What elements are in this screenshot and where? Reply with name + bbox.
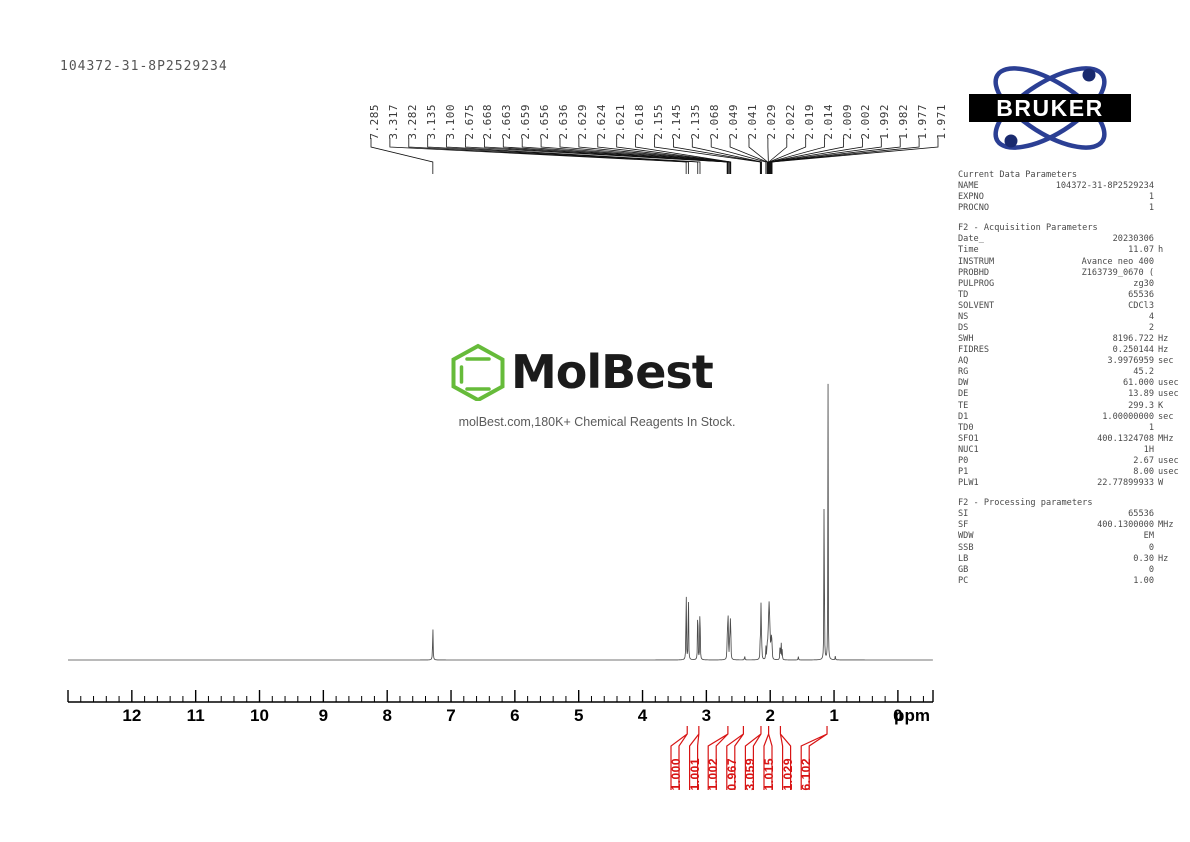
parameter-key: PROCNO (958, 203, 1020, 214)
peak-ppm-label: 2.663 (500, 104, 513, 140)
parameter-value: 1 (1020, 203, 1154, 214)
peak-ppm-label: 3.135 (425, 104, 438, 140)
axis-tick-label: 8 (382, 706, 391, 726)
sample-id-title: 104372-31-8P2529234 (60, 59, 228, 74)
integral-value-label: 1.002 (706, 758, 720, 791)
peak-ppm-label: 2.041 (746, 104, 759, 140)
parameter-value: 1 (1020, 192, 1154, 203)
bruker-node-icon (1083, 69, 1096, 82)
peak-ppm-label: 2.621 (614, 104, 627, 140)
bruker-logo: BRUKER (955, 52, 1145, 164)
peak-ppm-label: 2.659 (519, 104, 532, 140)
peak-ppm-label: 2.675 (463, 104, 476, 140)
peak-ppm-label: 2.145 (670, 104, 683, 140)
parameter-row: PROCNO1 (958, 203, 1188, 214)
integral-value-label: 3.059 (743, 758, 757, 791)
parameter-value: 20230306 (1020, 234, 1154, 245)
integral-value-label: 1.015 (762, 758, 776, 791)
peak-ppm-label: 2.668 (481, 104, 494, 140)
axis-tick-label: 12 (122, 706, 141, 726)
nmr-spectrum-plot (0, 250, 1190, 670)
peak-ppm-label: 3.317 (387, 104, 400, 140)
peak-ppm-label: 2.629 (576, 104, 589, 140)
axis-tick-label: 9 (319, 706, 328, 726)
parameter-unit (1154, 181, 1188, 192)
parameter-key: Date_ (958, 234, 1020, 245)
axis-tick-label: 10 (250, 706, 269, 726)
bruker-wordmark: BRUKER (969, 94, 1131, 122)
integral-value-label: 1.000 (669, 758, 683, 791)
peak-ppm-label: 7.285 (368, 104, 381, 140)
peak-ppm-label: 1.977 (916, 104, 929, 140)
axis-tick-label: 2 (765, 706, 774, 726)
peak-ppm-label: 2.009 (841, 104, 854, 140)
peak-ppm-label: 1.982 (897, 104, 910, 140)
peak-ppm-label: 2.029 (765, 104, 778, 140)
peak-ppm-label: 1.992 (878, 104, 891, 140)
peak-ppm-label: 2.014 (822, 104, 835, 140)
parameter-row: EXPNO1 (958, 192, 1188, 203)
axis-svg (0, 680, 1190, 730)
spectrum-trace-svg (0, 250, 1190, 670)
integral-svg (0, 726, 1190, 816)
axis-tick-label: 5 (574, 706, 583, 726)
peak-ppm-label: 2.019 (803, 104, 816, 140)
parameter-row: Date_20230306 (958, 234, 1188, 245)
peak-ppm-label: 3.100 (444, 104, 457, 140)
peak-ppm-label: 2.155 (652, 104, 665, 140)
bruker-node-icon (1005, 135, 1018, 148)
integral-value-label: 6.102 (799, 758, 813, 791)
parameter-unit (1154, 203, 1188, 214)
parameter-section-title: Current Data Parameters (958, 170, 1188, 181)
axis-unit-label: ppm (894, 706, 930, 726)
peak-ppm-label: 2.636 (557, 104, 570, 140)
peak-ppm-label: 2.022 (784, 104, 797, 140)
integral-value-label: 1.001 (688, 758, 702, 791)
parameter-unit (1154, 192, 1188, 203)
parameter-row: NAME104372-31-8P2529234 (958, 181, 1188, 192)
parameter-key: EXPNO (958, 192, 1020, 203)
axis-tick-label: 4 (638, 706, 647, 726)
peak-ppm-label: 2.656 (538, 104, 551, 140)
axis-tick-label: 7 (446, 706, 455, 726)
axis-tick-label: 6 (510, 706, 519, 726)
parameter-unit (1154, 234, 1188, 245)
peak-ppm-label: 2.068 (708, 104, 721, 140)
parameter-value: 104372-31-8P2529234 (1020, 181, 1154, 192)
peak-ppm-label: 3.282 (406, 104, 419, 140)
peak-ppm-label: 1.971 (935, 104, 948, 140)
peak-ppm-label: 2.049 (727, 104, 740, 140)
peak-ppm-label: 2.618 (633, 104, 646, 140)
parameter-key: NAME (958, 181, 1020, 192)
peak-ppm-label: 2.135 (689, 104, 702, 140)
integral-value-label: 0.967 (725, 758, 739, 791)
peak-ppm-label: 2.002 (859, 104, 872, 140)
spectrum-line (68, 384, 933, 660)
parameter-section-title: F2 - Acquisition Parameters (958, 223, 1188, 234)
axis-tick-label: 1 (829, 706, 838, 726)
ppm-axis: 1211109876543210ppm (0, 680, 1190, 730)
axis-tick-label: 3 (702, 706, 711, 726)
integral-curves: 1.0001.0011.0020.9673.0591.0151.0296.102 (0, 726, 1190, 816)
peak-ppm-label: 2.624 (595, 104, 608, 140)
integral-value-label: 1.029 (781, 758, 795, 791)
axis-tick-label: 11 (187, 706, 205, 726)
